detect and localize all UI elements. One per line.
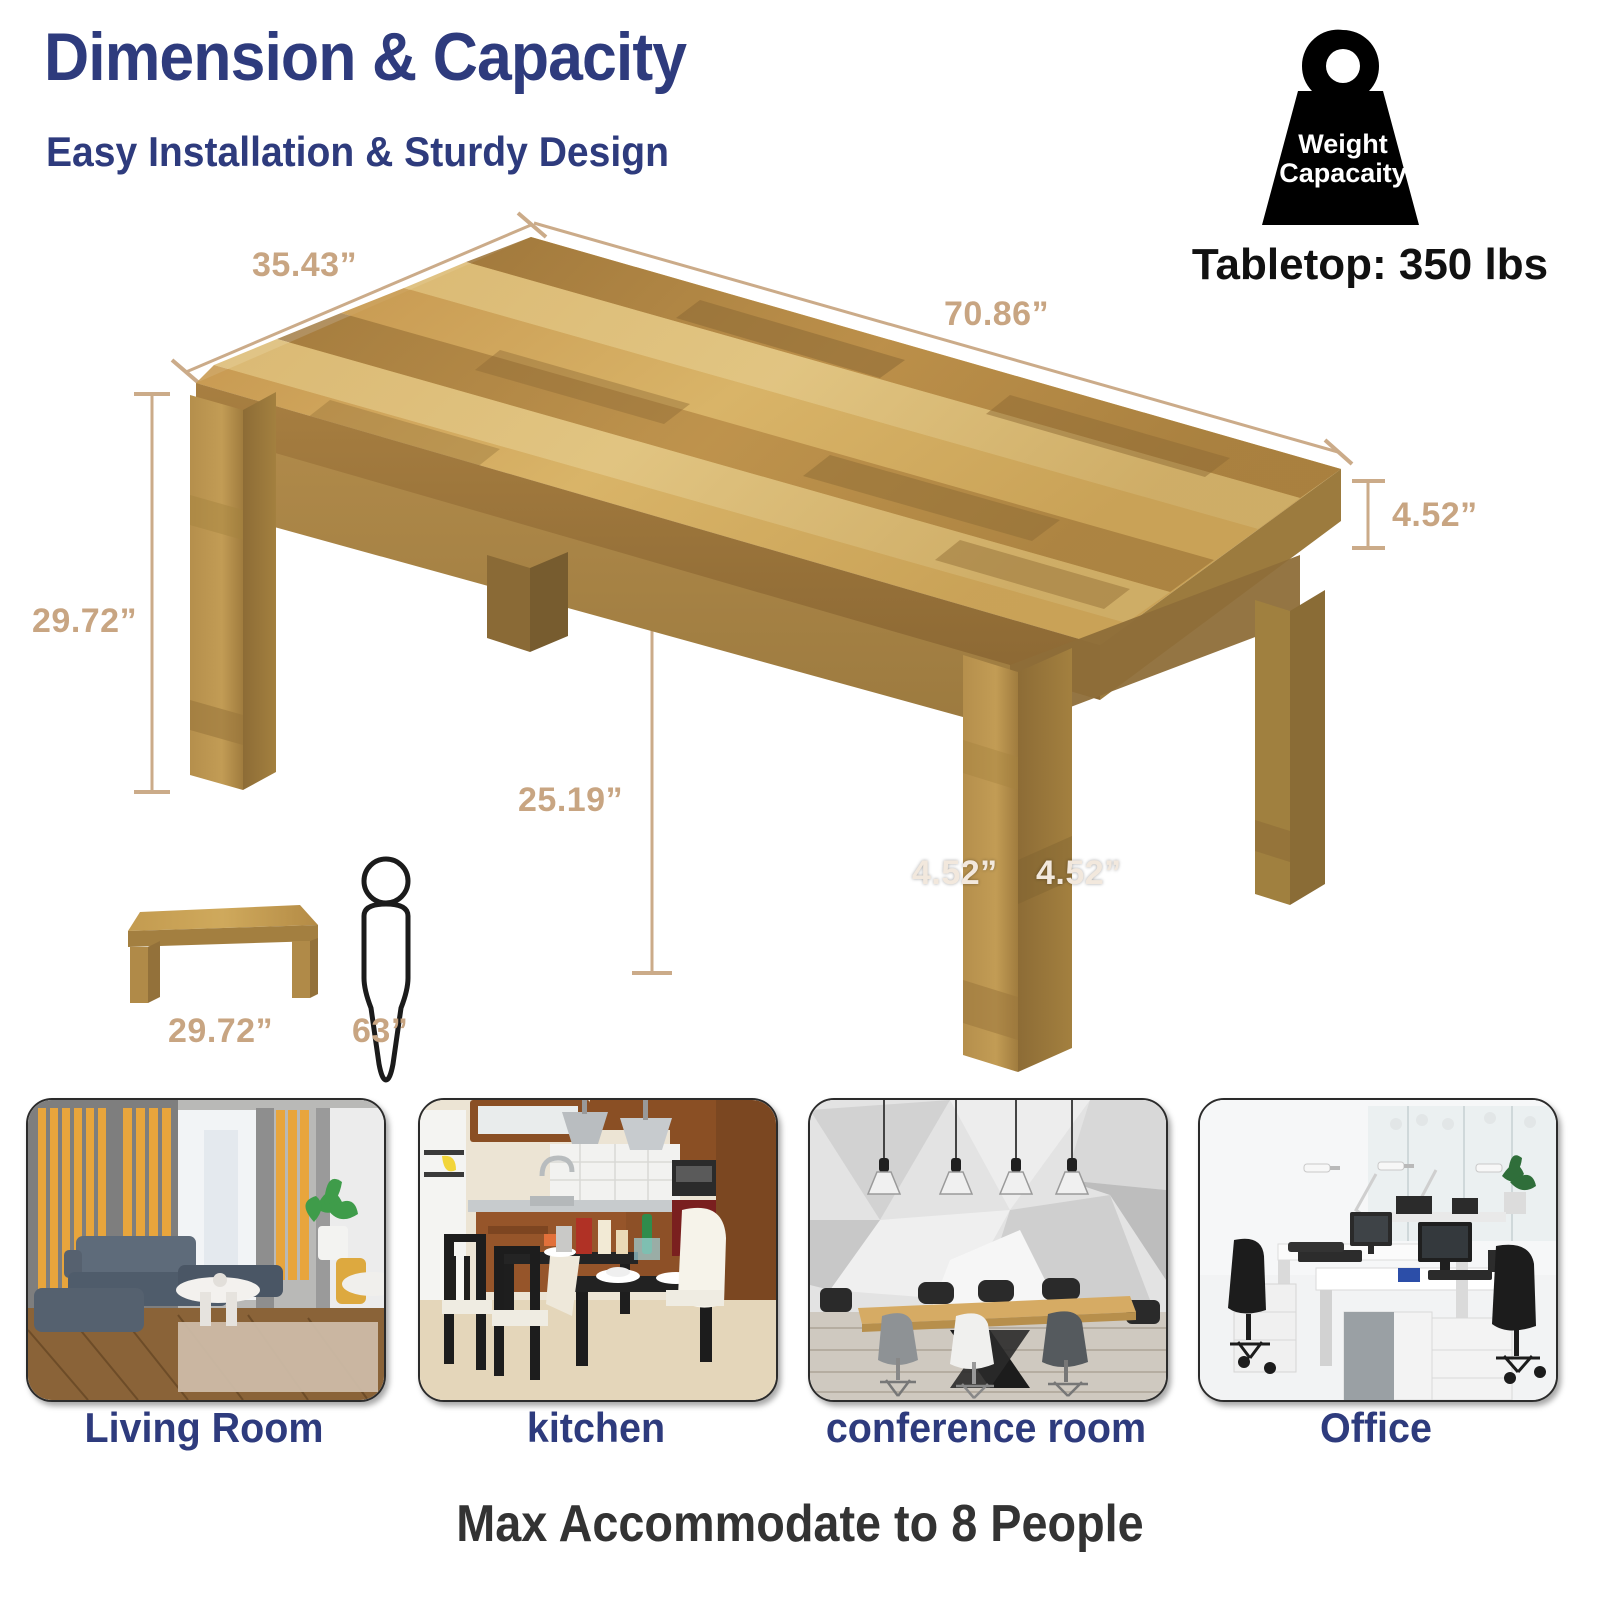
infographic-root: Dimension & Capacity Easy Installation &… [0,0,1600,1600]
scene-label-living-room: Living Room [37,1404,372,1452]
weight-icon [1248,22,1438,232]
dimension-lines [134,213,1385,973]
scene-card-living-room[interactable] [26,1098,386,1402]
dining-table-3d [190,237,1341,1072]
kitchen-photo [420,1100,776,1400]
dimension-label-leg-width-right: 4.52” [1036,854,1122,893]
page-subtitle: Easy Installation & Sturdy Design [46,128,669,176]
dimension-label-mini-table: 29.72” [168,1012,273,1051]
dimension-label-top-thickness: 4.52” [1392,496,1478,535]
scene-label-kitchen: kitchen [429,1404,764,1452]
office-photo [1200,1100,1556,1400]
living-room-photo [28,1100,384,1400]
table-leg-back-right [1255,590,1325,905]
footer-caption: Max Accommodate to 8 People [80,1494,1520,1554]
dimension-label-person-height: 63” [352,1012,408,1051]
dimension-label-height: 29.72” [32,602,137,641]
table-leg-front-left [190,392,276,790]
dimension-label-length: 70.86” [944,295,1049,334]
scene-label-office: Office [1209,1404,1544,1452]
dimension-label-leg-width-left: 4.52” [912,854,998,893]
dimension-label-clearance: 25.19” [518,781,623,820]
tabletop-front-edge [196,383,1100,700]
weight-capacity-badge: Weight Capacaity [1248,22,1438,232]
dimension-label-depth: 35.43” [252,246,357,285]
tabletop-surface [196,237,1341,645]
scene-card-kitchen[interactable] [418,1098,778,1402]
conference-room-photo [810,1100,1166,1400]
scene-card-conference-room[interactable] [808,1098,1168,1402]
tabletop-capacity-caption: Tabletop: 350 lbs [1160,240,1580,290]
table-apron-front [220,437,1010,730]
mini-table-silhouette [128,905,318,1003]
table-apron-right [1010,555,1300,730]
page-title: Dimension & Capacity [44,18,686,96]
tabletop-right-edge [1100,469,1341,700]
table-leg-rear-middle [487,552,568,652]
scene-label-conference-room: conference room [811,1404,1161,1452]
scene-card-row [0,1098,1600,1428]
scene-card-office[interactable] [1198,1098,1558,1402]
